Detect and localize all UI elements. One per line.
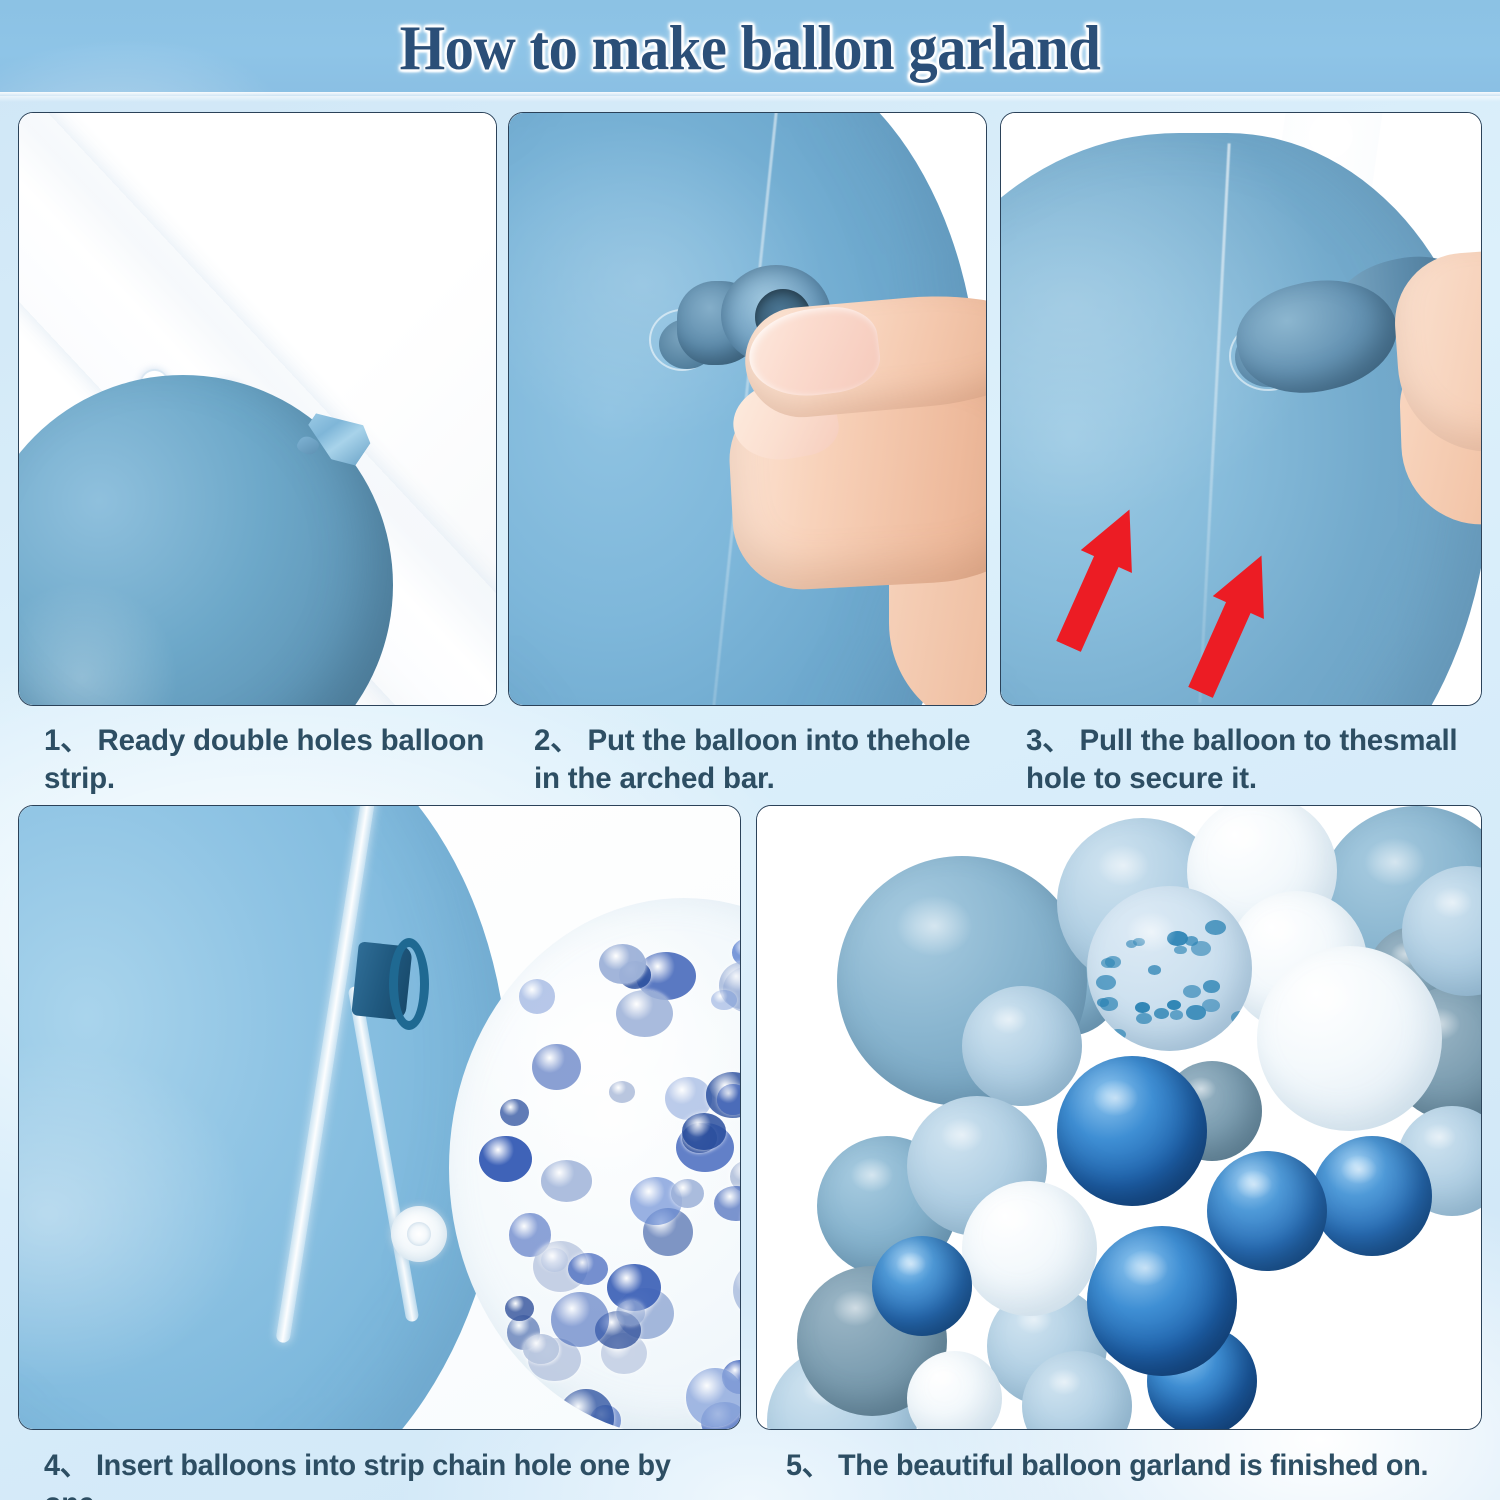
- balloon-neck-loop: [389, 938, 429, 1030]
- confetti-dot: [1186, 1005, 1207, 1020]
- step-1-caption: 1、 Ready double holes balloon strip.: [44, 722, 504, 798]
- confetti-dot: [1167, 1000, 1182, 1011]
- confetti-dot: [568, 1253, 608, 1285]
- garland-balloon: [1257, 946, 1442, 1131]
- garland-balloon: [962, 1181, 1097, 1316]
- strip-grommet: [391, 1206, 447, 1262]
- confetti-dot: [1203, 980, 1220, 992]
- confetti-dot: [616, 1300, 645, 1326]
- confetti-dot: [1110, 1029, 1126, 1040]
- garland-balloon: [1312, 1136, 1432, 1256]
- step-4-image: [18, 805, 741, 1430]
- confetti-dot: [616, 990, 673, 1037]
- confetti-dot: [558, 1389, 614, 1430]
- header-bar: How to make ballon garland: [0, 0, 1500, 96]
- step-3-caption: 3、 Pull the balloon to thesmall hole to …: [1026, 722, 1491, 798]
- confetti-dot: [1148, 965, 1161, 974]
- balloon-garland: [757, 806, 1481, 1429]
- confetti-dot: [609, 1081, 635, 1103]
- header-underline: [0, 92, 1500, 102]
- confetti-dot: [504, 1402, 534, 1430]
- garland-balloon: [962, 986, 1082, 1106]
- confetti-dot: [532, 1044, 580, 1090]
- confetti-dot: [1133, 938, 1145, 947]
- garland-balloon: [1087, 1226, 1237, 1376]
- page-title: How to make ballon garland: [53, 0, 1448, 96]
- confetti-dot: [479, 1136, 531, 1183]
- garland-balloon: [872, 1236, 972, 1336]
- garland-balloon: [1057, 1056, 1207, 1206]
- confetti-dot: [714, 1186, 741, 1222]
- confetti-dot: [1136, 1013, 1152, 1024]
- confetti-dot: [551, 1292, 609, 1347]
- confetti-dot: [1170, 1010, 1183, 1019]
- confetti-dot: [599, 944, 646, 984]
- confetti-dot: [686, 1368, 741, 1427]
- confetti-dot: [1191, 941, 1211, 956]
- confetti-dot: [671, 1179, 704, 1208]
- step-3-image: [1000, 112, 1482, 706]
- confetti-dot: [519, 979, 555, 1014]
- garland-balloon: [907, 1351, 1002, 1430]
- confetti-dot: [1231, 1011, 1249, 1024]
- step-5-caption: 5、 The beautiful balloon garland is fini…: [786, 1447, 1477, 1485]
- confetti-dot: [1100, 997, 1118, 1010]
- confetti-dot: [1205, 920, 1226, 935]
- confetti-dot: [733, 1262, 741, 1318]
- confetti-dot: [1183, 985, 1201, 998]
- confetti-dot: [500, 1099, 530, 1127]
- confetti-dot: [541, 1160, 592, 1201]
- confetti-dot: [1135, 1002, 1150, 1013]
- step-2-image: [508, 112, 987, 706]
- confetti-dot: [717, 1084, 741, 1114]
- step-1-image: [18, 112, 497, 706]
- confetti-dot: [1096, 975, 1116, 989]
- confetti-dot: [682, 1113, 727, 1150]
- confetti-dot: [1174, 946, 1186, 955]
- step-2-caption: 2、 Put the balloon into thehole in the a…: [534, 722, 994, 798]
- confetti-dot: [1126, 940, 1137, 948]
- confetti-dot: [1105, 956, 1121, 968]
- garland-balloon: [1087, 886, 1252, 1051]
- confetti-dot: [740, 1200, 741, 1229]
- step-5-image: [756, 805, 1482, 1430]
- confetti-dot: [1225, 895, 1239, 905]
- step-4-caption: 4、 Insert balloons into strip chain hole…: [44, 1447, 735, 1500]
- light-blue-balloon: [18, 805, 509, 1430]
- confetti-dot: [1154, 1008, 1169, 1019]
- garland-balloon: [1207, 1151, 1327, 1271]
